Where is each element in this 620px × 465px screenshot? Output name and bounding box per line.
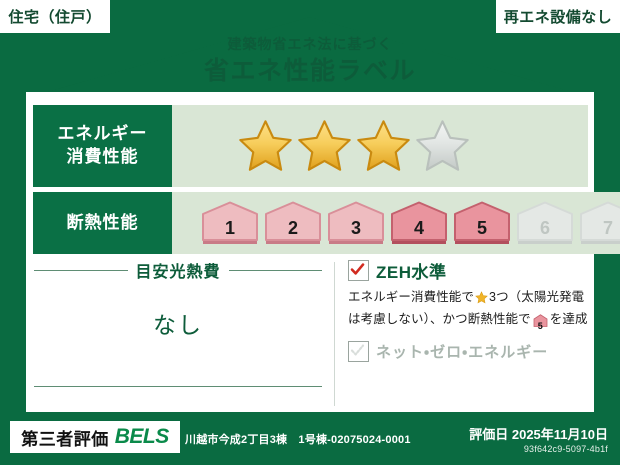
bels-badge: 第三者評価 BELS (10, 421, 180, 453)
net-zero-energy-label: ネット・ゼロ・エネルギー (376, 341, 548, 362)
insulation-performance-row: 断熱性能 1234567 (33, 192, 588, 254)
title-main: 省エネ性能ラベル (0, 56, 620, 87)
building-type-tag: 住宅（住戸） (0, 0, 110, 33)
zeh-desc-part3: を達成 (550, 312, 588, 326)
insulation-grade-filled: 4 (389, 201, 449, 245)
star-filled-icon (237, 118, 294, 175)
mini-house-number: 5 (533, 320, 548, 334)
energy-performance-label-line1: エネルギー (58, 123, 148, 146)
property-address: 川越市今成2丁目3棟 1号棟-02075024-0001 (185, 431, 411, 447)
heading-rule-right (229, 270, 323, 271)
column-divider (334, 262, 335, 406)
mini-house-icon: 5 (533, 314, 548, 333)
insulation-performance-label: 断熱性能 (33, 192, 172, 254)
zeh-section: ZEH水準 エネルギー消費性能で 3つ（太陽光発電 は考慮しない）、かつ断熱性能… (348, 258, 594, 362)
star-filled-icon (296, 118, 353, 175)
building-type-tag-label: 住宅（住戸） (8, 6, 101, 27)
renewable-equipment-tag-label: 再エネ設備なし (504, 6, 613, 27)
zeh-checkbox-checked[interactable] (348, 260, 369, 281)
bottom-section: 目安光熱費 なし ZEH水準 エネルギー消費性能で 3つ（太陽光発電 (26, 258, 594, 410)
utility-cost-value: なし (34, 306, 322, 340)
insulation-grade-filled: 1 (200, 201, 260, 245)
zeh-desc-star-count: 3つ（太陽光発電 (489, 290, 584, 304)
renewable-equipment-tag: 再エネ設備なし (496, 0, 620, 33)
insulation-grade-filled: 2 (263, 201, 323, 245)
insulation-performance-label-text: 断熱性能 (67, 212, 139, 235)
zeh-desc-part1: エネルギー消費性能で (348, 290, 474, 304)
heading-rule-left (34, 270, 128, 271)
insulation-grade-empty: 7 (578, 201, 620, 245)
label-title-block: 建築物省エネ法に基づく 省エネ性能ラベル (0, 36, 620, 87)
energy-performance-label: エネルギー 消費性能 (33, 105, 172, 187)
zeh-standard-row: ZEH水準 (348, 258, 594, 283)
zeh-description: エネルギー消費性能で 3つ（太陽光発電 は考慮しない）、かつ断熱性能で 5 を達… (348, 288, 594, 334)
star-empty-icon (414, 118, 471, 175)
zeh-desc-part2: は考慮しない）、かつ断熱性能で (348, 312, 531, 326)
bels-badge-en-label: BELS (115, 425, 169, 449)
star-filled-icon (355, 118, 412, 175)
bels-energy-label: 住宅（住戸） 再エネ設備なし 建築物省エネ法に基づく 省エネ性能ラベル エネルギ… (0, 0, 620, 465)
insulation-grade-scale: 1234567 (200, 201, 620, 245)
net-zero-energy-row: ネット・ゼロ・エネルギー (348, 341, 594, 362)
insulation-grade-filled: 5 (452, 201, 512, 245)
energy-performance-row: エネルギー 消費性能 (33, 105, 588, 187)
insulation-grade-filled: 3 (326, 201, 386, 245)
star-rating (237, 118, 471, 175)
net-zero-checkbox-unchecked[interactable] (348, 341, 369, 362)
utility-cost-heading: 目安光熱費 (34, 258, 322, 282)
footer-bar: 第三者評価 BELS 川越市今成2丁目3棟 1号棟-02075024-0001 … (0, 415, 620, 465)
energy-performance-body (172, 105, 588, 187)
mini-star-icon (475, 291, 488, 310)
energy-performance-label-line2: 消費性能 (67, 146, 139, 169)
zeh-standard-label: ZEH水準 (376, 258, 447, 283)
insulation-performance-body: 1234567 (172, 192, 620, 254)
title-subtitle: 建築物省エネ法に基づく (0, 36, 620, 53)
insulation-grade-empty: 6 (515, 201, 575, 245)
evaluation-date: 評価日 2025年11月10日 (469, 424, 608, 443)
utility-cost-heading-label: 目安光熱費 (136, 258, 221, 282)
evaluation-id: 93f642c9-5097-4b1f (524, 444, 608, 454)
utility-cost-bottom-rule (34, 386, 322, 387)
bels-badge-jp-label: 第三者評価 (21, 425, 109, 450)
